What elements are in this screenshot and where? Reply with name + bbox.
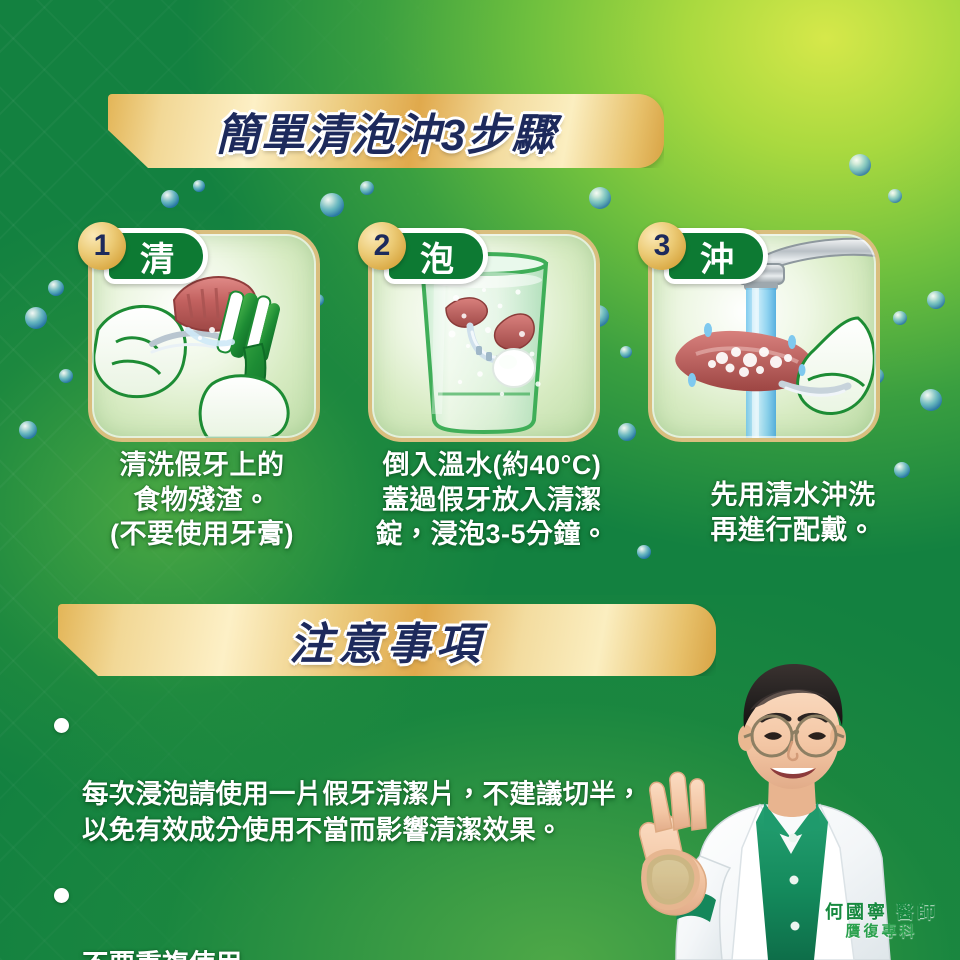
step-panel-2[interactable]: 2 泡: [358, 222, 608, 446]
bullet-dot-icon: [54, 888, 69, 903]
step-panel-3[interactable]: 3 沖: [638, 222, 888, 446]
doctor-credit: 何國寧 醫師 贋復專科: [825, 901, 938, 942]
step-1-number: 1: [78, 222, 126, 270]
doctor-specialty: 贋復專科: [825, 923, 938, 942]
poster-root: 簡單清泡沖3步驟: [0, 0, 960, 960]
step-2-number: 2: [358, 222, 406, 270]
bullet-dot-icon: [54, 718, 69, 733]
notes-banner-title: 注意事項: [289, 608, 485, 672]
doctor-name: 何國寧 醫師: [825, 901, 938, 924]
steps-row: 1 清: [0, 196, 960, 446]
step-panel-1[interactable]: 1 清: [78, 222, 328, 446]
steps-banner-title: 簡單清泡沖3步驟: [216, 99, 556, 163]
step-1-caption: 清洗假牙上的 食物殘渣。 (不要使用牙膏): [62, 448, 342, 552]
step-3-caption: 先用清水沖洗 再進行配戴。: [648, 478, 938, 547]
note-2-text: 不要重複使用 請勿吞服浸泡液或作為漱口水使用: [82, 949, 483, 960]
steps-banner: 簡單清泡沖3步驟: [108, 94, 664, 168]
doctor-photo: 何國寧 醫師 贋復專科: [614, 642, 960, 960]
step-3-number: 3: [638, 222, 686, 270]
note-1-text: 每次浸泡請使用一片假牙清潔片，不建議切半， 以免有效成分使用不當而影響清潔效果。: [82, 779, 643, 845]
step-2-caption: 倒入溫水(約40°C) 蓋過假牙放入清潔 錠，浸泡3-5分鐘。: [342, 448, 642, 552]
